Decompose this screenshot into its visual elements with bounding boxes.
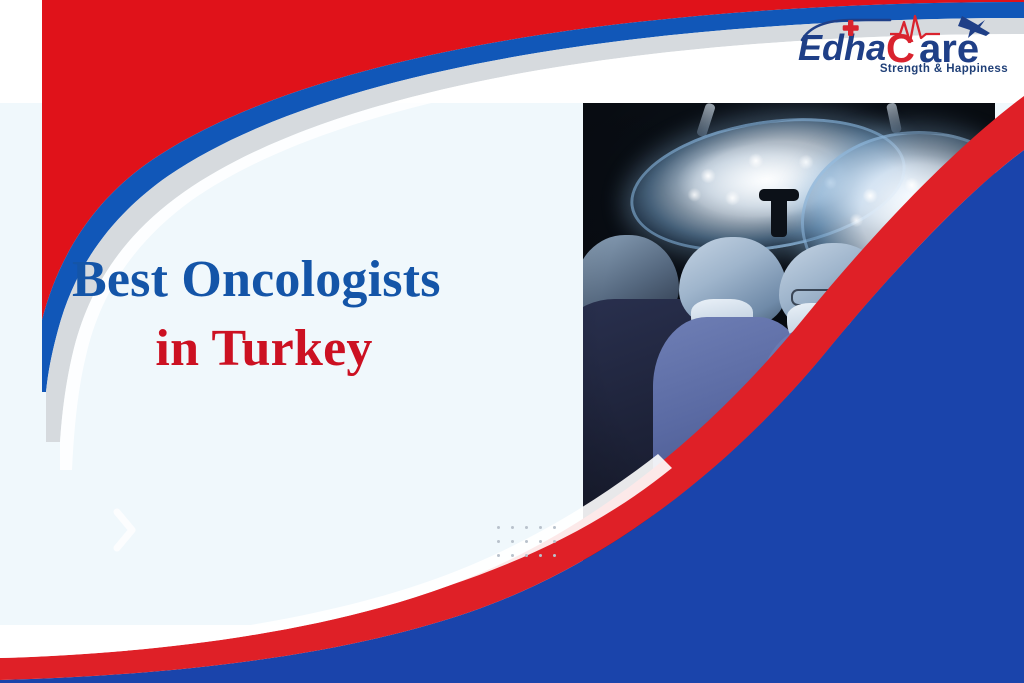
dot-grid-decoration [497, 526, 567, 568]
logo-tagline: Strength & Happiness [880, 63, 1008, 75]
headline-line-1: Best Oncologists [72, 246, 552, 315]
logo-word-edha: Edha [798, 27, 886, 68]
headline-line-2: in Turkey [72, 315, 552, 384]
logo-mark: Edha C are [794, 8, 1010, 70]
photo-scene [583, 103, 995, 625]
page-title: Best Oncologists in Turkey [72, 246, 552, 383]
bottom-white-band [0, 625, 1024, 683]
edhacare-logo[interactable]: Edha C are Strength & Happiness [794, 8, 1010, 86]
chevron-right-icon [112, 508, 138, 552]
surgery-photo [583, 103, 995, 625]
banner-root: Best Oncologists in Turkey Edha [0, 0, 1024, 683]
photo-vignette [583, 103, 995, 625]
